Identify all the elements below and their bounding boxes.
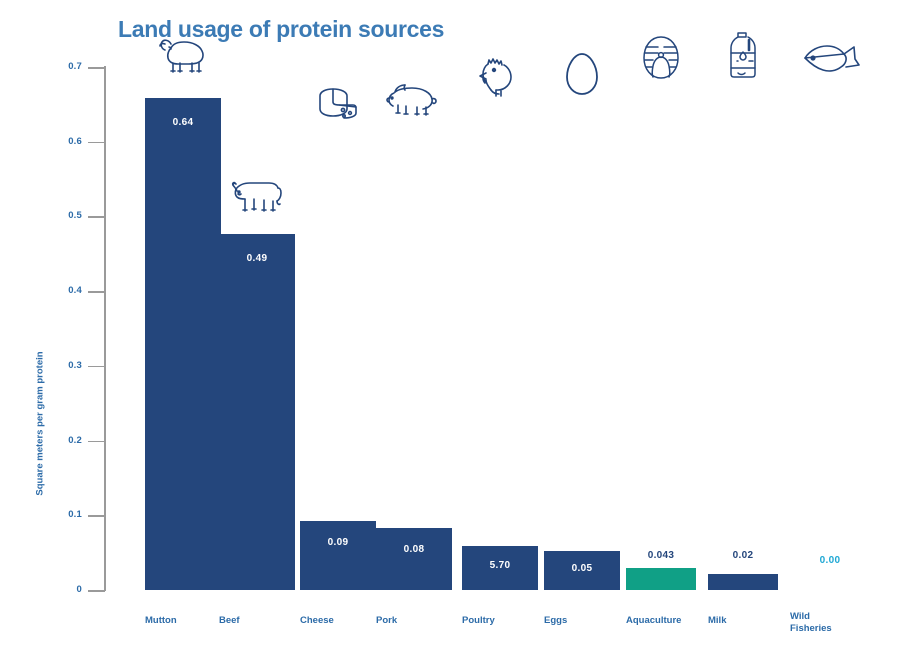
bar-beef[interactable]: 0.49 bbox=[219, 234, 295, 590]
y-tick-label: 0.5 bbox=[36, 210, 82, 221]
sheep-icon bbox=[145, 32, 221, 76]
bar-cheese[interactable]: 0.09 bbox=[300, 521, 376, 590]
y-tick-mark bbox=[88, 142, 105, 144]
bar-group-cheese[interactable]: 0.09 Cheese bbox=[300, 0, 376, 645]
fish-icon bbox=[790, 35, 870, 75]
bar-group-mutton[interactable]: 0.64 Mutton bbox=[145, 0, 221, 645]
chicken-icon bbox=[462, 53, 538, 99]
y-tick-mark bbox=[88, 67, 105, 69]
y-tick-mark bbox=[88, 515, 105, 517]
category-label-aquaculture: Aquaculture bbox=[626, 615, 696, 627]
bar-wild-fisheries[interactable]: 0.00 bbox=[790, 589, 870, 590]
bar-poultry[interactable]: 5.70 bbox=[462, 546, 538, 590]
category-label-wild-fisheries: Wild Fisheries bbox=[790, 611, 870, 635]
bar-milk[interactable]: 0.02 bbox=[708, 574, 778, 590]
y-tick-mark bbox=[88, 291, 105, 293]
category-label-eggs: Eggs bbox=[544, 615, 620, 627]
bar-value-cheese: 0.09 bbox=[300, 537, 376, 548]
bar-group-aquaculture[interactable]: 0.043 Aquaculture bbox=[626, 0, 696, 645]
bar-value-milk: 0.02 bbox=[708, 550, 778, 561]
pig-icon bbox=[376, 76, 452, 116]
y-tick-mark bbox=[88, 216, 105, 218]
bar-group-wild-fisheries[interactable]: 0.00 Wild Fisheries bbox=[790, 0, 870, 645]
y-tick-mark bbox=[88, 366, 105, 368]
bar-value-wild-fisheries: 0.00 bbox=[790, 555, 870, 566]
y-tick-label: 0 bbox=[36, 584, 82, 595]
y-tick-mark bbox=[88, 590, 105, 592]
bar-group-milk[interactable]: 0.02 Milk bbox=[708, 0, 778, 645]
category-label-line2: Fisheries bbox=[790, 623, 832, 634]
y-tick-label: 0.4 bbox=[36, 285, 82, 296]
bar-value-eggs: 0.05 bbox=[544, 563, 620, 574]
bar-group-beef[interactable]: 0.49 Beef bbox=[219, 0, 295, 645]
bar-pork[interactable]: 0.08 bbox=[376, 528, 452, 590]
bar-mutton[interactable]: 0.64 bbox=[145, 98, 221, 590]
bar-value-aquaculture: 0.043 bbox=[626, 550, 696, 561]
y-tick-label: 0.1 bbox=[36, 509, 82, 520]
chart-container: Land usage of protein sources Square met… bbox=[0, 0, 912, 645]
plot-area: 0.7 0.6 0.5 0.4 0.3 0.2 0.1 0 bbox=[0, 0, 912, 645]
bar-eggs[interactable]: 0.05 bbox=[544, 551, 620, 590]
category-label-pork: Pork bbox=[376, 615, 452, 627]
category-label-beef: Beef bbox=[219, 615, 295, 627]
category-label-poultry: Poultry bbox=[462, 615, 538, 627]
category-label-cheese: Cheese bbox=[300, 615, 376, 627]
bar-value-poultry: 5.70 bbox=[462, 560, 538, 571]
bar-group-poultry[interactable]: 5.70 Poultry bbox=[462, 0, 538, 645]
bar-value-mutton: 0.64 bbox=[145, 117, 221, 128]
y-tick-mark bbox=[88, 441, 105, 443]
bar-group-pork[interactable]: 0.08 Pork bbox=[376, 0, 452, 645]
y-tick-label: 0.2 bbox=[36, 435, 82, 446]
bar-group-eggs[interactable]: 0.05 Eggs bbox=[544, 0, 620, 645]
y-axis-line bbox=[104, 66, 106, 591]
fish-steak-icon bbox=[626, 33, 696, 81]
y-tick-label: 0.6 bbox=[36, 136, 82, 147]
y-tick-label: 0.7 bbox=[36, 61, 82, 72]
cow-icon bbox=[219, 170, 295, 218]
milk-jug-icon bbox=[708, 28, 778, 80]
category-label-line1: Wild bbox=[790, 611, 810, 622]
bar-value-pork: 0.08 bbox=[376, 544, 452, 555]
cheese-icon bbox=[300, 81, 376, 123]
bar-value-beef: 0.49 bbox=[219, 253, 295, 264]
y-tick-label: 0.3 bbox=[36, 360, 82, 371]
category-label-milk: Milk bbox=[708, 615, 778, 627]
bar-aquaculture[interactable]: 0.043 bbox=[626, 568, 696, 590]
egg-icon bbox=[544, 49, 620, 97]
category-label-mutton: Mutton bbox=[145, 615, 221, 627]
